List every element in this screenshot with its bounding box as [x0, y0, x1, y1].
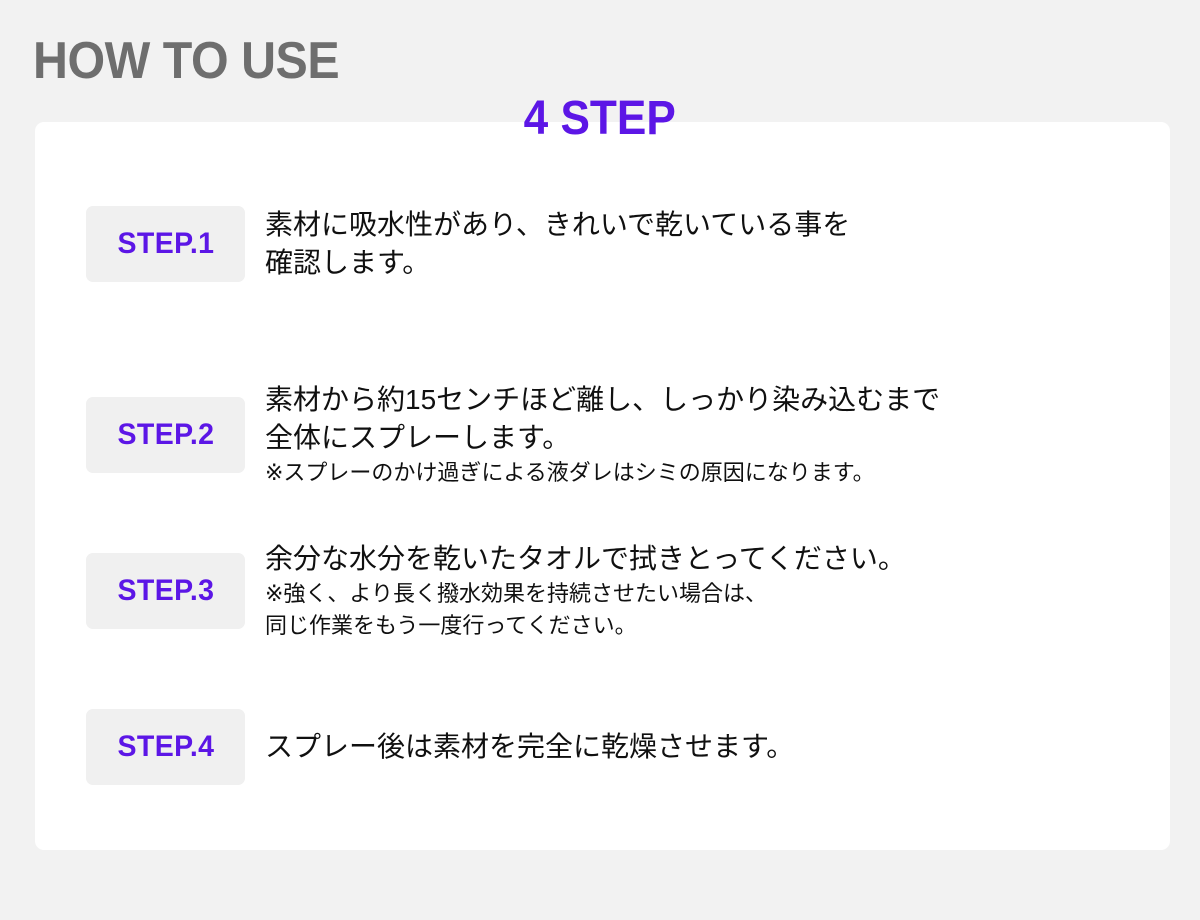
- step-note-line: ※強く、より長く撥水効果を持続させたい場合は、: [265, 578, 906, 610]
- step-text-line: 素材に吸水性があり、きれいで乾いている事を: [265, 206, 850, 244]
- page-title: HOW TO USE: [33, 30, 339, 92]
- step-badge-label: STEP.2: [117, 418, 214, 452]
- step-note-line: ※スプレーのかけ過ぎによる液ダレはシミの原因になります。: [265, 457, 940, 489]
- step-badge-label: STEP.3: [117, 574, 214, 608]
- step-body: 素材から約15センチほど離し、しっかり染み込むまで 全体にスプレーします。 ※ス…: [265, 381, 940, 489]
- step-note-line: 同じ作業をもう一度行ってください。: [265, 610, 906, 642]
- step-body: 余分な水分を乾いたタオルで拭きとってください。 ※強く、より長く撥水効果を持続さ…: [265, 540, 906, 642]
- step-text-line: 全体にスプレーします。: [265, 419, 940, 457]
- step-row: STEP.2 素材から約15センチほど離し、しっかり染み込むまで 全体にスプレー…: [86, 381, 940, 489]
- step-badge-label: STEP.4: [117, 730, 214, 764]
- step-body: スプレー後は素材を完全に乾燥させます。: [265, 728, 794, 766]
- step-badge: STEP.4: [86, 709, 245, 785]
- step-text-line: スプレー後は素材を完全に乾燥させます。: [265, 728, 794, 766]
- step-row: STEP.3 余分な水分を乾いたタオルで拭きとってください。 ※強く、より長く撥…: [86, 540, 906, 642]
- step-row: STEP.1 素材に吸水性があり、きれいで乾いている事を 確認します。: [86, 206, 850, 282]
- step-badge-label: STEP.1: [117, 227, 214, 261]
- step-body: 素材に吸水性があり、きれいで乾いている事を 確認します。: [265, 206, 850, 282]
- step-badge: STEP.1: [86, 206, 245, 282]
- step-text-line: 素材から約15センチほど離し、しっかり染み込むまで: [265, 381, 940, 419]
- how-to-use-page: HOW TO USE 4 STEP STEP.1 素材に吸水性があり、きれいで乾…: [0, 0, 1200, 920]
- steps-list: STEP.1 素材に吸水性があり、きれいで乾いている事を 確認します。 STEP…: [35, 122, 1170, 850]
- step-badge: STEP.2: [86, 397, 245, 473]
- step-text-line: 確認します。: [265, 244, 850, 282]
- step-text-line: 余分な水分を乾いたタオルで拭きとってください。: [265, 540, 906, 578]
- step-row: STEP.4 スプレー後は素材を完全に乾燥させます。: [86, 709, 794, 785]
- step-badge: STEP.3: [86, 553, 245, 629]
